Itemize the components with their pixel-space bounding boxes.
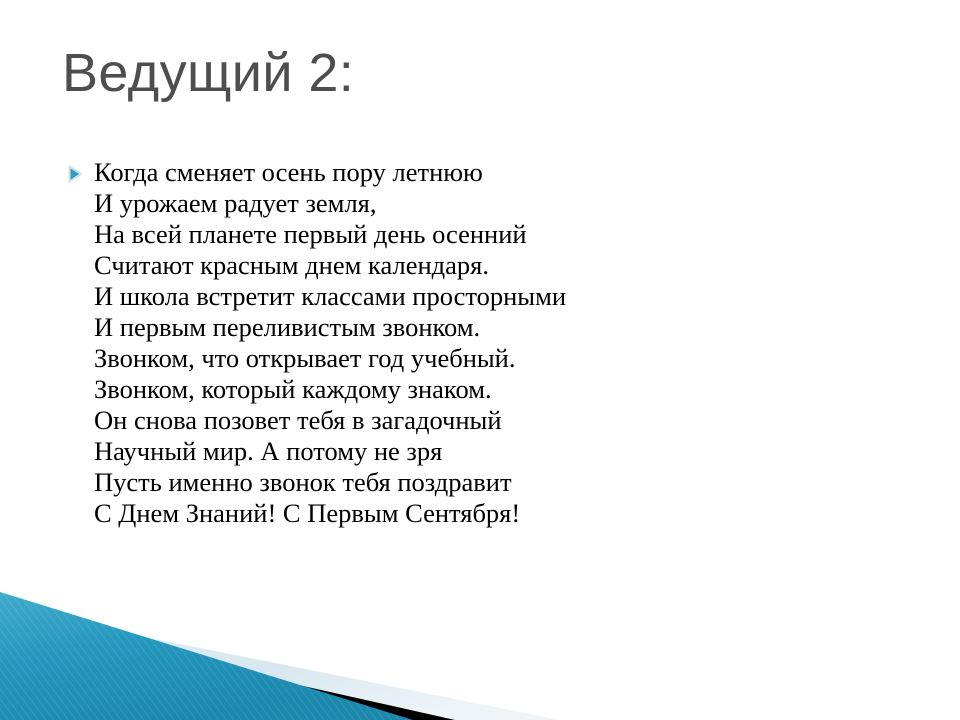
pale-diagonal-band — [0, 608, 560, 720]
poem-line: И школа встретит классами просторными — [94, 281, 856, 312]
bottom-diagonal-banner — [0, 580, 960, 720]
page-title: Ведущий 2: — [62, 44, 902, 102]
slide-body: Когда сменяет осень пору летнюю И урожае… — [66, 157, 856, 529]
teal-diagonal-wedge — [0, 592, 413, 720]
poem-line: С Днем Знаний! С Первым Сентября! — [94, 498, 856, 529]
poem-line: И первым переливистым звонком. — [94, 312, 856, 343]
poem-line: И урожаем радует земля, — [94, 188, 856, 219]
poem-text: Когда сменяет осень пору летнюю И урожае… — [94, 157, 856, 529]
presentation-slide: Ведущий 2: Когда сменяет осень пору летн… — [0, 0, 960, 720]
poem-line: Звонком, который каждому знаком. — [94, 374, 856, 405]
teal-wedge-texture — [0, 592, 413, 720]
triangle-right-bullet-icon — [66, 157, 94, 183]
poem-line: На всей планете первый день осенний — [94, 219, 856, 250]
black-diagonal-stripe — [0, 618, 455, 720]
poem-line: Пусть именно звонок тебя поздравит — [94, 467, 856, 498]
poem-line: Когда сменяет осень пору летнюю — [94, 157, 856, 188]
list-item: Когда сменяет осень пору летнюю И урожае… — [66, 157, 856, 529]
poem-line: Научный мир. А потому не зря — [94, 436, 856, 467]
poem-line: Звонком, что открывает год учебный. — [94, 343, 856, 374]
poem-line: Считают красным днем календаря. — [94, 250, 856, 281]
poem-line: Он снова позовет тебя в загадочный — [94, 405, 856, 436]
